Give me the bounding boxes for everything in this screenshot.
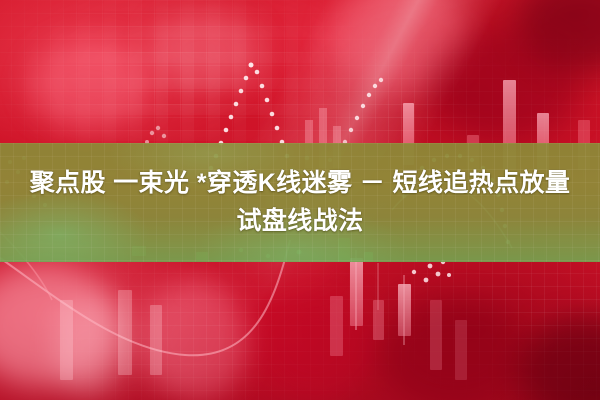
banner-title-line-1: 聚点股 一束光 *穿透K线迷雾 － 短线追热点放量 bbox=[30, 167, 571, 201]
glow-blob bbox=[520, 320, 600, 400]
glow-blob bbox=[380, 300, 530, 400]
glow-blob bbox=[140, 280, 250, 400]
glow-blob bbox=[150, 10, 260, 90]
glow-blob bbox=[0, 265, 120, 385]
candlestick-series-left bbox=[60, 290, 162, 380]
banner-title-block: 聚点股 一束光 *穿透K线迷雾 － 短线追热点放量 试盘线战法 bbox=[0, 143, 600, 262]
glow-blob bbox=[255, 290, 375, 400]
glow-blob bbox=[30, 40, 150, 130]
glow-blob bbox=[430, 30, 580, 140]
glow-blob bbox=[520, 0, 600, 70]
glow-blob bbox=[330, 0, 470, 90]
banner-title-line-2: 试盘线战法 bbox=[236, 205, 363, 239]
glow-blob bbox=[55, 300, 125, 395]
dotted-marks-lower bbox=[412, 260, 451, 283]
stock-promo-banner: 聚点股 一束光 *穿透K线迷雾 － 短线追热点放量 试盘线战法 bbox=[0, 0, 600, 400]
candlestick-series bbox=[330, 250, 467, 380]
